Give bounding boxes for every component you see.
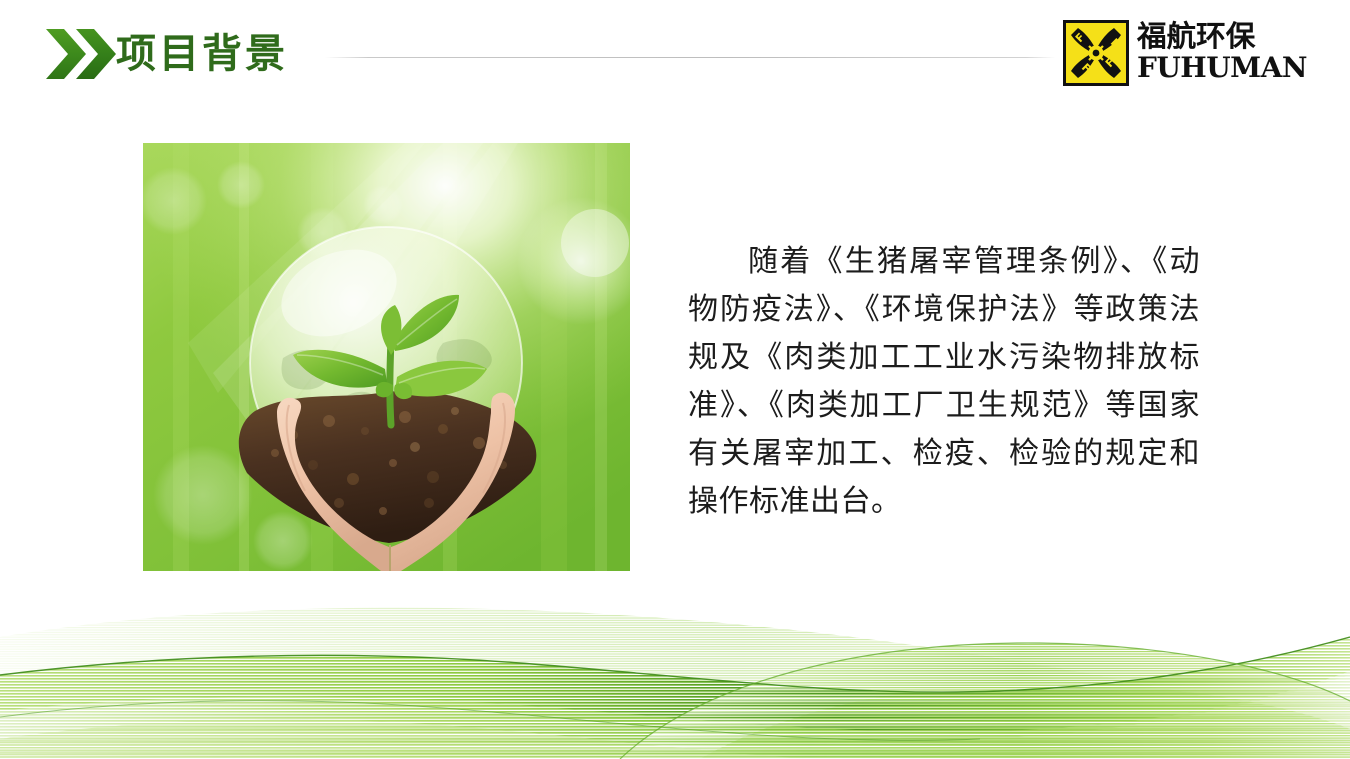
- body-paragraph: 随着《生猪屠宰管理条例》、《动物防疫法》、《环境保护法》等政策法规及《肉类加工工…: [688, 238, 1200, 526]
- fuhuman-four-petal-mark-icon: F F F F: [1063, 20, 1129, 86]
- slide-root: 项目背景 F F F F: [0, 0, 1350, 759]
- logo-company-name-en: FUHUMAN: [1137, 52, 1307, 84]
- logo-wordmark: 福航环保 FUHUMAN: [1137, 20, 1273, 88]
- logo-company-name-cn: 福航环保: [1137, 20, 1255, 52]
- hands-holding-sprout-photo: [143, 143, 630, 571]
- title-divider: [325, 57, 1055, 58]
- double-chevron-right-icon: [46, 27, 118, 81]
- page-title: 项目背景: [116, 26, 288, 82]
- company-logo: F F F F 福航环保: [1063, 20, 1273, 92]
- green-wave-ribbons-decoration: [0, 579, 1350, 759]
